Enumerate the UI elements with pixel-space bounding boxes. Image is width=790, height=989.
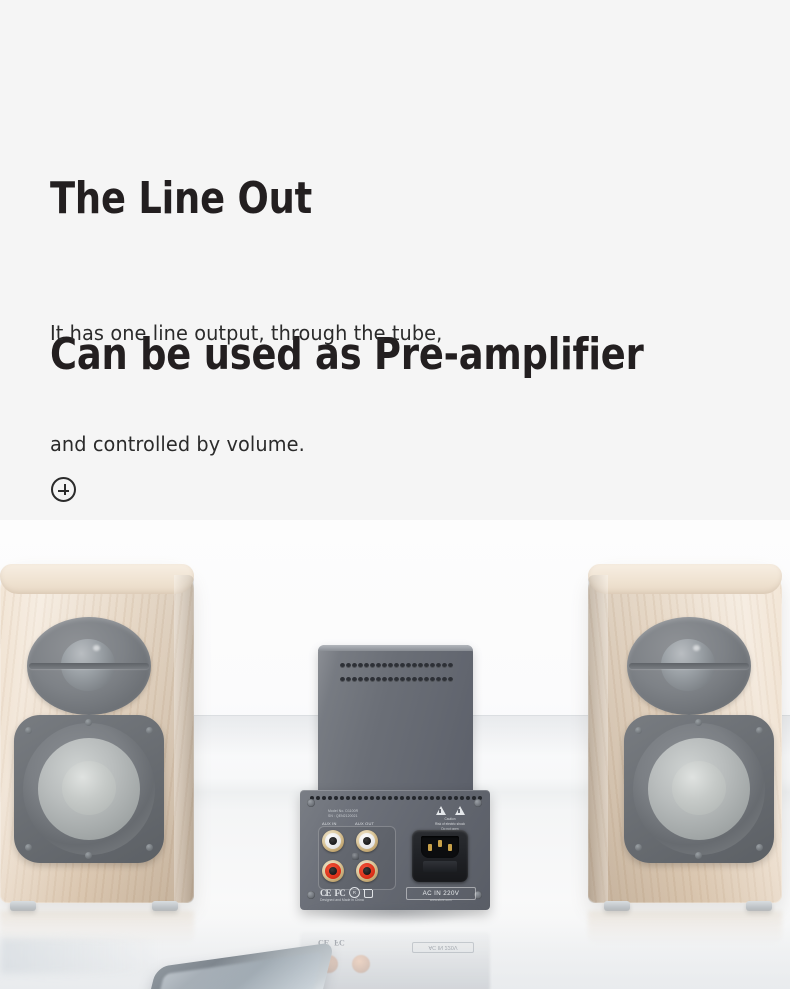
- speaker-foot: [10, 901, 36, 911]
- panel-vent-hole: [448, 796, 452, 800]
- vent-hole: [394, 677, 399, 682]
- vent-hole: [412, 663, 417, 668]
- speaker-cabinet-top: [588, 564, 782, 594]
- panel-vent-hole: [424, 796, 428, 800]
- reflected-ac-in-label: AC IN 220V: [412, 942, 474, 953]
- panel-vent-hole: [460, 796, 464, 800]
- warning-triangle-row: [422, 806, 478, 815]
- panel-vent-hole: [364, 796, 368, 800]
- foreground-blur: [0, 938, 160, 974]
- vent-hole: [448, 663, 453, 668]
- panel-vent-hole: [358, 796, 362, 800]
- vent-hole: [358, 663, 363, 668]
- vent-hole: [382, 677, 387, 682]
- tweeter-bar: [629, 663, 749, 669]
- rca-hole: [363, 867, 371, 875]
- aux-out-label: AUX OUT: [355, 821, 374, 826]
- panel-screw: [307, 799, 315, 807]
- panel-vent-hole: [322, 796, 326, 800]
- woofer-screw: [695, 852, 702, 859]
- ac-pin: [448, 844, 452, 851]
- vent-hole: [352, 663, 357, 668]
- amplifier-rear-panel: Model No. D1100R SN : QEN2120021 Caution…: [300, 790, 490, 910]
- vent-hole: [388, 663, 393, 668]
- vent-hole: [364, 677, 369, 682]
- panel-vent-hole: [442, 796, 446, 800]
- reflected-fcc-mark-icon: FC: [334, 938, 345, 947]
- vent-hole: [358, 677, 363, 682]
- woofer-driver: [14, 715, 164, 863]
- panel-vent-hole: [394, 796, 398, 800]
- vent-hole: [376, 677, 381, 682]
- page-title-line-1: The Line Out: [50, 173, 720, 225]
- caution-title: Caution: [422, 817, 478, 821]
- vent-hole: [340, 677, 345, 682]
- panel-vent-hole: [334, 796, 338, 800]
- panel-vent-hole: [430, 796, 434, 800]
- panel-vent-hole: [388, 796, 392, 800]
- panel-vent-hole: [328, 796, 332, 800]
- vent-hole: [388, 677, 393, 682]
- speaker-reflection: [588, 911, 782, 945]
- amplifier-vent-grid: [340, 663, 454, 685]
- woofer-screw: [85, 852, 92, 859]
- vent-hole: [352, 677, 357, 682]
- product-detail-page: The Line Out Can be used as Pre-amplifie…: [0, 0, 790, 989]
- panel-vent-hole: [346, 796, 350, 800]
- plus-circle-icon[interactable]: [51, 477, 76, 502]
- model-number-label: Model No. D1100R SN : QEN2120021: [328, 809, 358, 819]
- vent-hole: [376, 663, 381, 668]
- vent-row: [340, 663, 454, 668]
- woofer-screw: [635, 727, 642, 734]
- woofer-screw: [146, 844, 153, 851]
- woofer-screw: [25, 727, 32, 734]
- fcc-mark-icon: FC: [335, 888, 345, 898]
- speaker-cabinet-top: [0, 564, 194, 594]
- woofer-dust-cap: [62, 761, 116, 815]
- website-label: www.store.com: [430, 898, 452, 902]
- tweeter-highlight: [693, 645, 700, 651]
- vent-hole: [346, 677, 351, 682]
- speaker-left: [0, 565, 202, 920]
- vent-hole: [442, 663, 447, 668]
- panel-vent-hole: [382, 796, 386, 800]
- warning-triangle-icon: [455, 806, 465, 815]
- woofer-screw: [695, 719, 702, 726]
- description-line-1: It has one line output, through the tube…: [50, 315, 668, 352]
- woofer-screw: [25, 844, 32, 851]
- weee-bin-icon: [364, 888, 371, 897]
- rca-jack-aux-in-left: [322, 830, 344, 852]
- panel-screw: [307, 891, 315, 899]
- warning-triangle-icon: [436, 806, 446, 815]
- vent-row: [340, 677, 454, 682]
- panel-vent-hole: [352, 796, 356, 800]
- panel-vent-hole: [454, 796, 458, 800]
- vent-hole: [370, 677, 375, 682]
- ac-power-socket: [412, 830, 468, 882]
- ac-pin: [428, 844, 432, 851]
- vent-hole: [406, 663, 411, 668]
- panel-vent-hole: [466, 796, 470, 800]
- rca-jack-aux-out-left: [356, 830, 378, 852]
- amplifier-shadow: [306, 907, 484, 925]
- reflected-rca-jack: [352, 955, 370, 973]
- description-line-2: and controlled by volume.: [50, 426, 668, 463]
- panel-vent-hole: [370, 796, 374, 800]
- vent-hole: [442, 677, 447, 682]
- vent-hole: [424, 663, 429, 668]
- vent-hole: [430, 677, 435, 682]
- ce-mark-icon: CE: [320, 888, 331, 898]
- amplifier: Model No. D1100R SN : QEN2120021 Caution…: [300, 645, 490, 920]
- tweeter-bar: [29, 663, 149, 669]
- vent-hole: [448, 677, 453, 682]
- made-in-label: Designed and Made in China: [320, 898, 364, 902]
- woofer-screw: [635, 844, 642, 851]
- certification-marks: CE FC R: [320, 887, 371, 898]
- rca-jack-aux-out-right: [356, 860, 378, 882]
- panel-vent-row: [310, 796, 480, 801]
- vent-hole: [412, 677, 417, 682]
- panel-vent-hole: [340, 796, 344, 800]
- ac-socket-tab: [423, 861, 457, 872]
- product-photo: Model No. D1100R SN : QEN2120021 Caution…: [0, 520, 790, 989]
- tweeter-driver: [627, 617, 751, 715]
- vent-hole: [394, 663, 399, 668]
- woofer-screw: [756, 727, 763, 734]
- speaker-right: [580, 565, 790, 920]
- rca-hole: [363, 837, 371, 845]
- vent-hole: [382, 663, 387, 668]
- vent-hole: [406, 677, 411, 682]
- panel-vent-hole: [316, 796, 320, 800]
- amplifier-chassis-top-edge: [318, 645, 473, 651]
- tweeter-driver: [27, 617, 151, 715]
- rca-hole: [329, 837, 337, 845]
- vent-hole: [430, 663, 435, 668]
- vent-hole: [370, 663, 375, 668]
- woofer-screw: [85, 719, 92, 726]
- vent-hole: [436, 677, 441, 682]
- vent-hole: [424, 677, 429, 682]
- panel-vent-hole: [436, 796, 440, 800]
- panel-vent-hole: [418, 796, 422, 800]
- vent-hole: [364, 663, 369, 668]
- speaker-foot: [604, 901, 630, 911]
- speaker-foot: [746, 901, 772, 911]
- vent-hole: [400, 663, 405, 668]
- vent-hole: [418, 663, 423, 668]
- rca-jack-aux-in-right: [322, 860, 344, 882]
- vent-hole: [400, 677, 405, 682]
- woofer-screw: [756, 844, 763, 851]
- ac-socket-recess: [421, 836, 459, 858]
- woofer-driver: [624, 715, 774, 863]
- rohs-mark-icon: R: [349, 887, 360, 898]
- panel-vent-hole: [406, 796, 410, 800]
- panel-vent-hole: [400, 796, 404, 800]
- speaker-cabinet-side: [588, 575, 608, 903]
- ground-post: [352, 853, 359, 860]
- aux-in-label: AUX IN: [322, 821, 337, 826]
- panel-vent-hole: [376, 796, 380, 800]
- woofer-dust-cap: [672, 761, 726, 815]
- woofer-screw: [146, 727, 153, 734]
- caution-block: Caution Risk of electric shock Do not op…: [422, 806, 478, 831]
- vent-hole: [346, 663, 351, 668]
- speaker-cabinet-side: [174, 575, 194, 903]
- speaker-foot: [152, 901, 178, 911]
- tweeter-highlight: [93, 645, 100, 651]
- vent-hole: [418, 677, 423, 682]
- vent-hole: [340, 663, 345, 668]
- panel-vent-hole: [412, 796, 416, 800]
- rca-hole: [329, 867, 337, 875]
- ac-pin-ground: [438, 840, 442, 847]
- vent-hole: [436, 663, 441, 668]
